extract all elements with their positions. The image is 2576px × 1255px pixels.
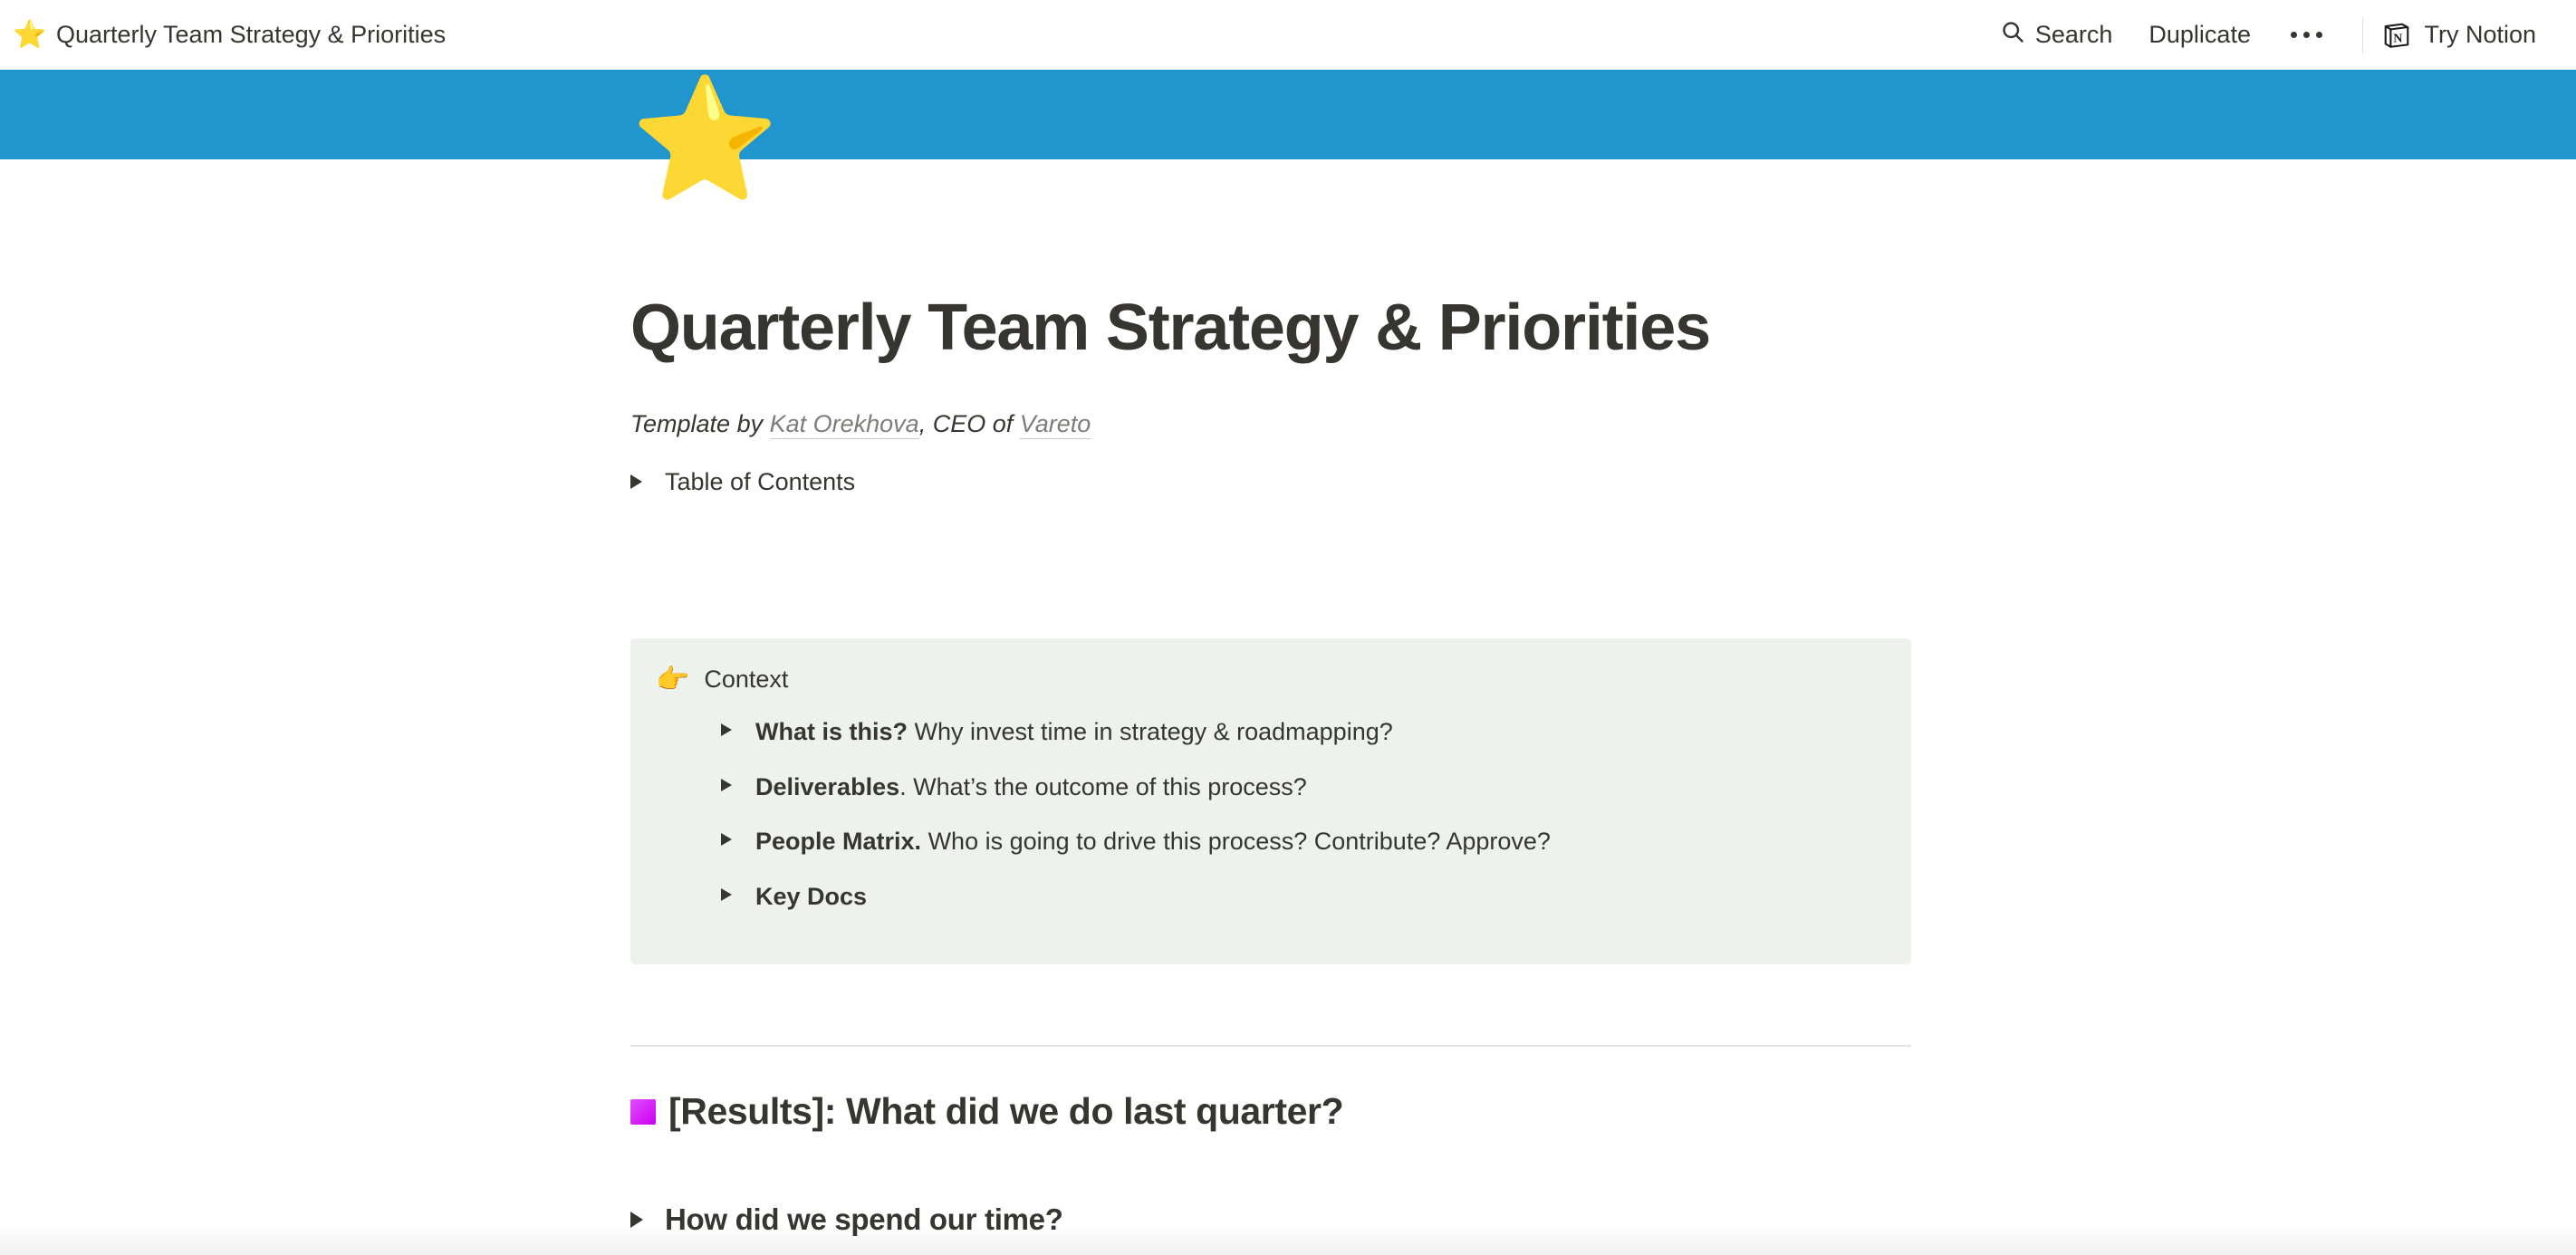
toggle-key-docs[interactable]: Key Docs [721, 878, 1886, 915]
section-divider [630, 1045, 1911, 1047]
toggle-table-of-contents[interactable]: Table of Contents [630, 464, 855, 501]
svg-text:N: N [2394, 31, 2404, 45]
results-heading-text: [Results]: What did we do last quarter? [668, 1090, 1343, 1133]
top-bar: ⭐ Quarterly Team Strategy & Priorities S… [0, 0, 2576, 70]
toggle-label: Deliverables. What’s the outcome of this… [755, 769, 1307, 806]
pointing-right-icon: 👉 [656, 662, 689, 697]
toggle-label-bold: People Matrix. [755, 828, 921, 855]
page-title: Quarterly Team Strategy & Priorities [630, 292, 1917, 365]
topbar-right-group: Search Duplicate N Try Notion [1982, 17, 2536, 53]
byline: Template by Kat Orekhova, CEO of Vareto [630, 406, 1091, 443]
search-label: Search [2035, 21, 2113, 49]
toggle-deliverables[interactable]: Deliverables. What’s the outcome of this… [721, 769, 1886, 806]
duplicate-label: Duplicate [2148, 21, 2251, 49]
toggle-what-is-this[interactable]: What is this? Why invest time in strateg… [721, 714, 1886, 751]
purple-square-icon [630, 1099, 656, 1125]
triangle-right-icon[interactable] [721, 714, 755, 736]
toolbar-divider [2362, 17, 2364, 53]
toggle-label-bold: What is this? [755, 718, 908, 745]
toggle-label: How did we spend our time? [665, 1197, 1063, 1242]
byline-middle: , CEO of [919, 410, 1020, 437]
topbar-page-title: Quarterly Team Strategy & Priorities [56, 21, 446, 49]
callout-toggle-list: What is this? Why invest time in strateg… [656, 714, 1886, 915]
toggle-label: Key Docs [755, 878, 867, 915]
callout-header: 👉 Context [656, 662, 1886, 697]
try-notion-button[interactable]: N Try Notion [2381, 20, 2536, 51]
search-button[interactable]: Search [1982, 19, 2131, 51]
triangle-right-icon[interactable] [630, 464, 665, 489]
notion-logo-icon: N [2381, 20, 2412, 51]
ellipsis-icon[interactable] [2269, 32, 2344, 38]
try-notion-label: Try Notion [2424, 21, 2536, 49]
toggle-label-bold: Key Docs [755, 883, 867, 910]
page-body: ⭐ Quarterly Team Strategy & Priorities T… [0, 0, 2576, 1255]
triangle-right-icon[interactable] [630, 1197, 665, 1228]
toggle-people-matrix[interactable]: People Matrix. Who is going to drive thi… [721, 823, 1886, 860]
topbar-left-group: ⭐ Quarterly Team Strategy & Priorities [13, 21, 446, 49]
triangle-right-icon[interactable] [721, 823, 755, 846]
search-icon [2000, 19, 2025, 51]
toc-label: Table of Contents [665, 464, 855, 501]
page-icon-star-icon[interactable]: ⭐ [630, 80, 779, 199]
results-heading: [Results]: What did we do last quarter? [630, 1090, 1343, 1133]
callout-title: Context [704, 662, 788, 697]
triangle-right-icon[interactable] [721, 878, 755, 901]
toggle-label: People Matrix. Who is going to drive thi… [755, 823, 1551, 860]
duplicate-button[interactable]: Duplicate [2130, 21, 2269, 49]
page-star-icon: ⭐ [13, 22, 43, 49]
context-callout: 👉 Context What is this? Why invest time … [630, 638, 1911, 964]
byline-author-link[interactable]: Kat Orekhova [770, 410, 919, 439]
triangle-right-icon[interactable] [721, 769, 755, 791]
toggle-how-did-we-spend-our-time[interactable]: How did we spend our time? [630, 1197, 1063, 1242]
byline-company-link[interactable]: Vareto [1020, 410, 1091, 439]
toggle-label: What is this? Why invest time in strateg… [755, 714, 1393, 751]
toggle-label-bold: Deliverables [755, 773, 899, 800]
toggle-label-rest: . What’s the outcome of this process? [899, 773, 1307, 800]
toggle-label-rest: Why invest time in strategy & roadmappin… [908, 718, 1393, 745]
byline-prefix: Template by [630, 410, 770, 437]
toggle-label-rest: Who is going to drive this process? Cont… [921, 828, 1551, 855]
